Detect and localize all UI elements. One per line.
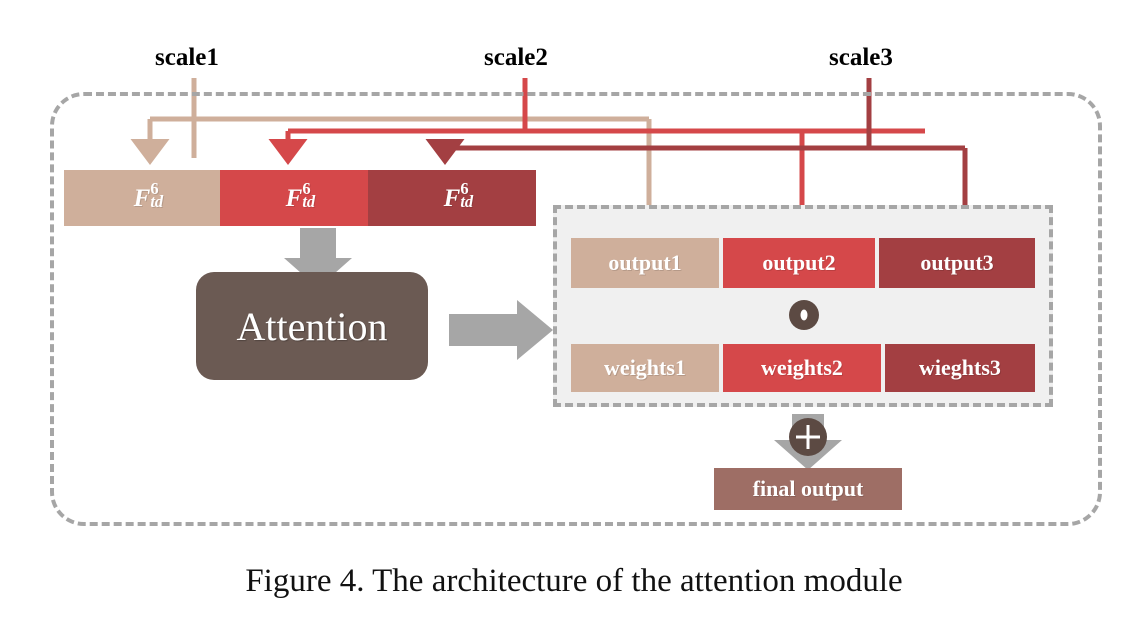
figure-attention-module: scale1 scale2 scale3 F6td F6td F6td Atte… [0, 0, 1148, 625]
weights-box-3[interactable]: wieghts3 [885, 344, 1035, 392]
weights-box-1[interactable]: weights1 [571, 344, 719, 392]
ftd-1-label: F6td [134, 186, 151, 211]
output-box-2[interactable]: output2 [723, 238, 875, 288]
attention-label: Attention [236, 303, 387, 350]
output-1-label: output1 [608, 250, 681, 276]
plus-operator-icon [789, 418, 827, 456]
final-output-label: final output [753, 476, 864, 502]
scale3-label: scale3 [829, 44, 893, 72]
attention-block[interactable]: Attention [196, 272, 428, 380]
figure-caption: Figure 4. The architecture of the attent… [0, 563, 1148, 600]
weights-box-2[interactable]: weights2 [723, 344, 881, 392]
output-2-label: output2 [762, 250, 835, 276]
output-box-1[interactable]: output1 [571, 238, 719, 288]
feature-box-ftd-1[interactable]: F6td [64, 170, 220, 226]
feature-box-ftd-3[interactable]: F6td [368, 170, 536, 226]
weights-1-label: weights1 [604, 355, 686, 381]
dot-operator-icon [789, 300, 819, 330]
ftd-2-label: F6td [286, 186, 303, 211]
output-3-label: output3 [920, 250, 993, 276]
output-box-3[interactable]: output3 [879, 238, 1035, 288]
weights-3-label: wieghts3 [919, 355, 1001, 381]
final-output-box[interactable]: final output [714, 468, 902, 510]
weights-2-label: weights2 [761, 355, 843, 381]
scale2-label: scale2 [484, 44, 548, 72]
scale1-label: scale1 [155, 44, 219, 72]
ftd-3-label: F6td [444, 186, 461, 211]
feature-box-ftd-2[interactable]: F6td [220, 170, 368, 226]
